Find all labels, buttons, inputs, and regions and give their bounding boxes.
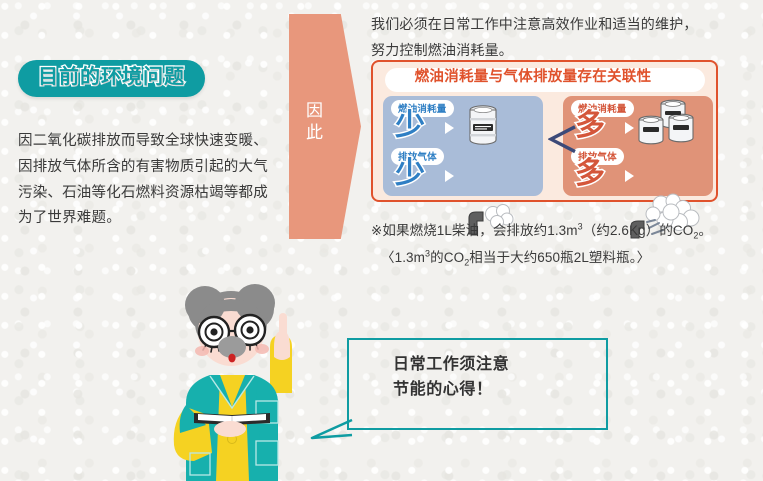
body-line: 因排放气体所含的有害物质引起的大气: [18, 155, 280, 181]
footnote-text: ※如果燃烧1L柴油，会排放约1.3m: [371, 223, 578, 238]
footnote-text: 的CO: [430, 250, 464, 265]
footnote-line-2: 〈1.3m3的CO2相当于大约650瓶2L塑料瓶。〉: [371, 245, 763, 272]
less-than-comparison-icon: ＜: [545, 124, 579, 158]
arrow-char: 此: [289, 122, 341, 144]
arrow-char: 因: [289, 100, 341, 122]
speech-bubble-text: 日常工作须注意 节能的心得！: [393, 353, 509, 403]
footnote-text: （约2.6Kg）的CO: [583, 223, 694, 238]
low-gas-amount: 少: [395, 159, 425, 189]
page-title: 目前的环境问题: [38, 67, 185, 88]
therefore-arrow-label: 因 此: [289, 100, 341, 144]
body-line: 为了世界难题。: [18, 206, 280, 232]
low-fuel-amount: 少: [395, 111, 425, 141]
body-line: 因二氧化碳排放而导致全球快速变暖、: [18, 129, 280, 155]
body-line: 污染、石油等化石燃料资源枯竭等都成: [18, 181, 280, 207]
low-gas-row: 排放气体 少: [389, 146, 549, 194]
diagram-title: 燃油消耗量与气体排放量存在关联性: [373, 65, 693, 86]
intro-paragraph: 我们必须在日常工作中注意高效作业和适当的维护， 努力控制燃油消耗量。: [371, 12, 759, 64]
therefore-arrow: 因 此: [289, 14, 361, 239]
high-fuel-row: 燃油消耗量 多: [569, 98, 719, 146]
elderly-woman-instructor-illustration: [150, 275, 335, 481]
speech-line: 日常工作须注意: [393, 353, 509, 378]
fuel-emission-diagram-card: 燃油消耗量与气体排放量存在关联性 燃油消耗量 少: [371, 60, 718, 202]
oil-drum-icon: [465, 104, 501, 146]
footnotes: ※如果燃烧1L柴油，会排放约1.3m3（约2.6Kg）的CO2。 〈1.3m3的…: [371, 218, 763, 272]
environment-problem-body: 因二氧化碳排放而导致全球快速变暖、 因排放气体所含的有害物质引起的大气 污染、石…: [18, 129, 280, 232]
intro-line: 我们必须在日常工作中注意高效作业和适当的维护，: [371, 12, 759, 38]
footnote-text: 。: [699, 223, 713, 238]
high-gas-row: 排放气体 多: [569, 146, 719, 194]
low-consumption-box: 燃油消耗量 少 排放气体: [383, 96, 543, 196]
footnote-text: 相当于大约650瓶2L塑料瓶。〉: [469, 250, 650, 265]
arrow-right-icon: [445, 122, 454, 134]
high-fuel-amount: 多: [575, 111, 605, 141]
speech-line: 节能的心得！: [393, 378, 509, 403]
footnote-text: 〈1.3m: [381, 250, 425, 265]
environment-problem-title-pill: 目前的环境问题: [18, 60, 205, 97]
arrow-right-icon: [445, 170, 454, 182]
footnote-line-1: ※如果燃烧1L柴油，会排放约1.3m3（约2.6Kg）的CO2。: [371, 218, 763, 245]
high-gas-amount: 多: [575, 159, 605, 189]
speech-bubble-tail-icon: [310, 418, 354, 440]
arrow-right-icon: [625, 170, 634, 182]
low-fuel-row: 燃油消耗量 少: [389, 98, 549, 146]
high-consumption-box: 燃油消耗量 多: [563, 96, 713, 196]
oil-drums-stack-icon: [627, 98, 713, 148]
